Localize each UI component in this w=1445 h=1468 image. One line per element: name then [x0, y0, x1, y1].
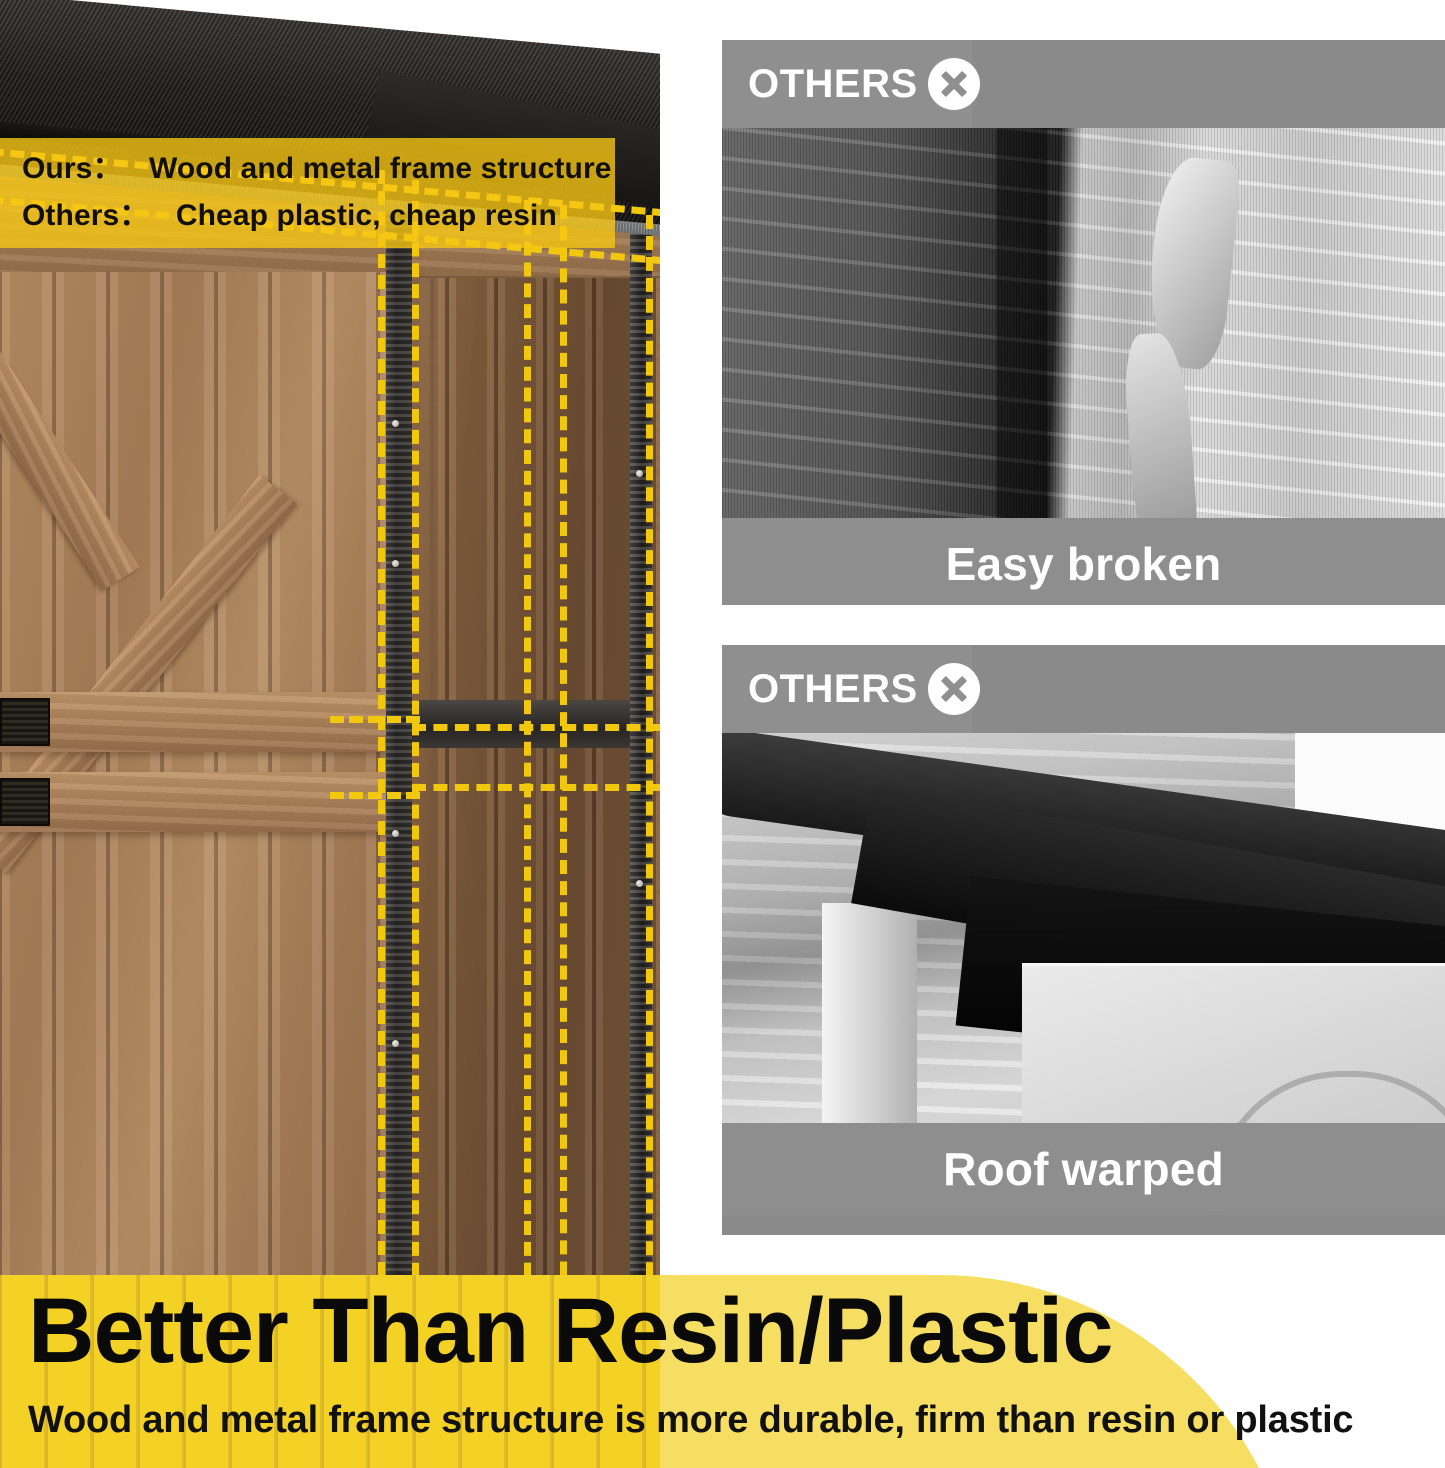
overlay-value-others: Cheap plastic, cheap resin [176, 199, 557, 232]
overlay-label-others: Others： [22, 193, 149, 240]
banner-headline: Better Than Resin/Plastic [28, 1285, 1112, 1377]
shed-corner-metal-post [386, 150, 412, 1380]
door-hinge-lower [0, 778, 50, 826]
ours-vs-others-overlay: Ours： Wood and metal frame structure Oth… [0, 138, 615, 248]
overlay-value-ours: Wood and metal frame structure [149, 152, 612, 185]
hero-product-photo: Ours： Wood and metal frame structure Oth… [0, 0, 660, 1380]
overlay-row-others: Others： Cheap plastic, cheap resin [22, 193, 615, 240]
frame-screw [392, 560, 399, 567]
frame-screw [636, 470, 643, 477]
frame-screw [392, 1040, 399, 1047]
overlay-label-ours: Ours： [22, 146, 123, 193]
others-badge-label: OTHERS [748, 669, 918, 709]
others-badge: OTHERS [722, 645, 972, 733]
annotation-dash-side-rail-bottom [412, 784, 660, 791]
panel-caption-bar: Easy broken [722, 518, 1445, 605]
frame-screw [392, 830, 399, 837]
others-badge-label: OTHERS [748, 64, 918, 104]
panel-caption-text: Easy broken [946, 537, 1222, 591]
others-badge: OTHERS [722, 40, 972, 128]
panel-caption-bar: Roof warped [722, 1123, 1445, 1215]
door-rail-lower [0, 772, 392, 832]
banner-subtitle: Wood and metal frame structure is more d… [28, 1399, 1353, 1442]
frame-screw [392, 420, 399, 427]
door-hinge-upper [0, 698, 50, 746]
bottom-banner: Better Than Resin/Plastic Wood and metal… [0, 1275, 1445, 1468]
annotation-dash-panel-seam [524, 200, 531, 1360]
comparison-panel-roof-warped: OTHERS Roof warped [722, 645, 1445, 1235]
x-circle-icon [928, 663, 980, 715]
annotation-dash-post-right [412, 180, 419, 1360]
annotation-dash-side-rail-top [412, 724, 660, 731]
warped-plastic-roof-photo [722, 733, 1445, 1123]
frame-screw [636, 880, 643, 887]
broken-plastic-siding-photo [722, 128, 1445, 518]
annotation-dash-post-left [378, 170, 385, 1360]
panel-caption-text: Roof warped [943, 1142, 1224, 1196]
x-circle-icon [928, 58, 980, 110]
annotation-dash-panel-seam-2 [560, 205, 567, 1360]
annotation-dash-rail-top [330, 716, 420, 723]
annotation-dash-rail-bottom [330, 792, 420, 799]
comparison-panel-easy-broken: OTHERS Easy broken [722, 40, 1445, 605]
overlay-row-ours: Ours： Wood and metal frame structure [22, 146, 615, 193]
